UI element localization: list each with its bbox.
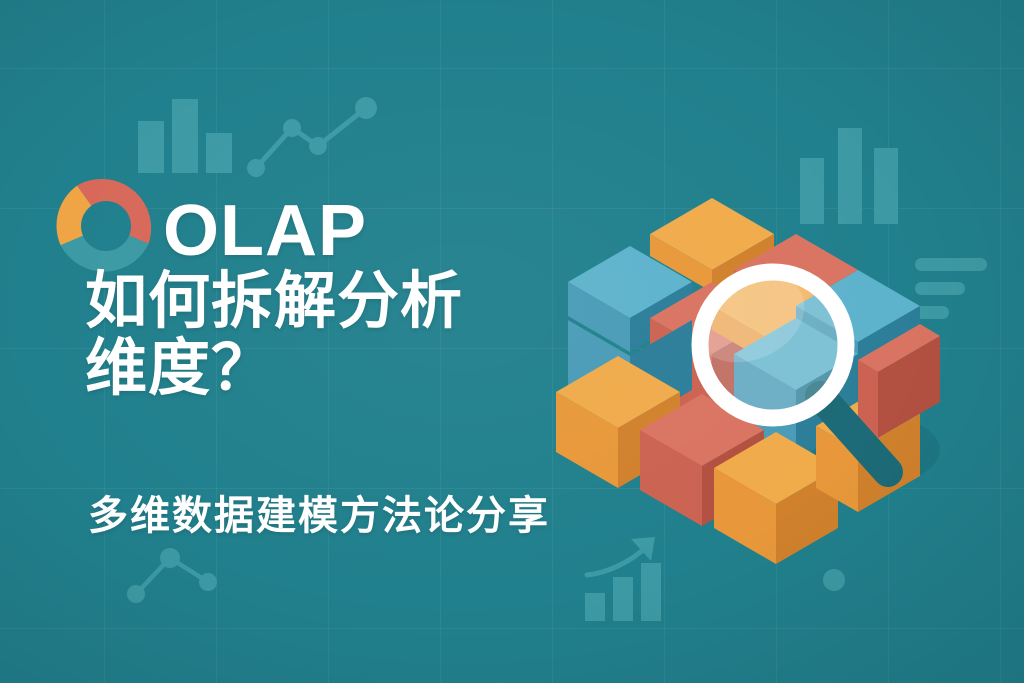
deco-bar [172, 99, 198, 173]
line-chart-decoration-bottom-left [128, 548, 218, 604]
deco-polyline [256, 108, 366, 168]
page-title-en: OLAP [163, 196, 595, 267]
growth-chart-decoration-bottom [585, 535, 671, 621]
page-title-cn-line1: 如何拆解分析 [85, 269, 595, 336]
headline-block: OLAP 如何拆解分析 维度？ [85, 196, 595, 402]
deco-point [355, 97, 377, 119]
deco-bar [641, 563, 661, 621]
deco-dot [823, 569, 845, 591]
deco-bar [613, 577, 633, 621]
dot-decoration-bottom [822, 568, 846, 592]
deco-arrow-curve [587, 545, 649, 575]
deco-point [160, 548, 180, 568]
deco-point [247, 159, 265, 177]
deco-bar [206, 133, 232, 173]
page-title-cn-line2: 维度？ [85, 336, 595, 403]
page-subtitle: 多维数据建模方法论分享 [88, 483, 550, 541]
bar-chart-decoration-top-left [138, 95, 234, 173]
deco-bar [138, 121, 164, 173]
deco-point [127, 585, 145, 603]
deco-point [309, 137, 327, 155]
deco-point [199, 573, 217, 591]
deco-point [283, 119, 301, 137]
line-chart-decoration-top-left [248, 100, 378, 176]
deco-bar [585, 593, 605, 621]
poster-canvas: OLAP 如何拆解分析 维度？ 多维数据建模方法论分享 [0, 0, 1024, 683]
